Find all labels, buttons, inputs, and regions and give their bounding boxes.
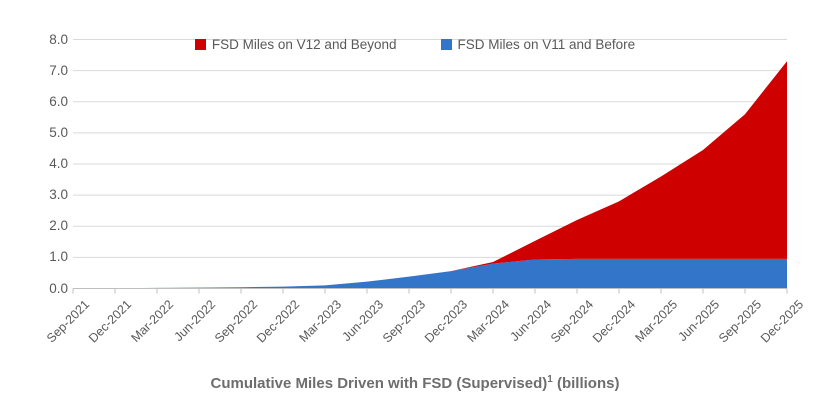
chart-title-suffix: (billions): [553, 375, 620, 392]
chart-title: Cumulative Miles Driven with FSD (Superv…: [0, 374, 830, 394]
cumulative-fsd-miles-chart: 0.01.02.03.04.05.06.07.08.0 Sep-2021Dec-…: [0, 0, 830, 408]
chart-title-main: Cumulative Miles Driven with FSD (Superv…: [211, 375, 548, 392]
x-axis-tick-labels: Sep-2021Dec-2021Mar-2022Jun-2022Sep-2022…: [0, 0, 830, 408]
